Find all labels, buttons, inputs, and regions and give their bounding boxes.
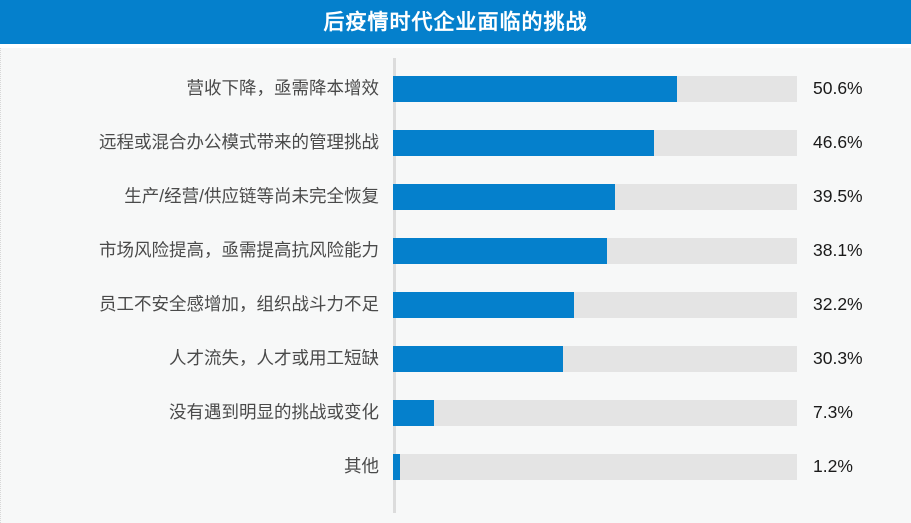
bar-track — [393, 292, 797, 318]
bar-fill — [393, 400, 434, 426]
table-row: 生产/经营/供应链等尚未完全恢复39.5% — [1, 170, 911, 224]
bar-fill — [393, 454, 400, 480]
bar-fill — [393, 292, 574, 318]
bar-category-label: 生产/经营/供应链等尚未完全恢复 — [1, 187, 393, 206]
table-row: 没有遇到明显的挑战或变化7.3% — [1, 386, 911, 440]
bar-value-label: 50.6% — [797, 79, 863, 98]
page-title: 后疫情时代企业面临的挑战 — [324, 12, 588, 33]
table-row: 市场风险提高，亟需提高抗风险能力38.1% — [1, 224, 911, 278]
bar-track-background — [393, 400, 797, 426]
chart-card: 后疫情时代企业面临的挑战 营收下降，亟需降本增效50.6%远程或混合办公模式带来… — [0, 0, 911, 523]
bar-category-label: 远程或混合办公模式带来的管理挑战 — [1, 133, 393, 152]
bar-track — [393, 184, 797, 210]
bar-value-label: 32.2% — [797, 295, 863, 314]
bar-category-label: 市场风险提高，亟需提高抗风险能力 — [1, 241, 393, 260]
bar-row-list: 营收下降，亟需降本增效50.6%远程或混合办公模式带来的管理挑战46.6%生产/… — [1, 48, 911, 523]
bar-track-background — [393, 454, 797, 480]
bar-fill — [393, 76, 677, 102]
bar-track — [393, 76, 797, 102]
table-row: 其他1.2% — [1, 440, 911, 494]
bar-value-label: 39.5% — [797, 187, 863, 206]
bar-track — [393, 130, 797, 156]
bar-track — [393, 454, 797, 480]
table-row: 人才流失，人才或用工短缺30.3% — [1, 332, 911, 386]
bar-track — [393, 238, 797, 264]
bar-category-label: 人才流失，人才或用工短缺 — [1, 349, 393, 368]
bar-fill — [393, 130, 654, 156]
bar-fill — [393, 346, 563, 372]
bar-value-label: 46.6% — [797, 133, 863, 152]
bar-track — [393, 400, 797, 426]
bar-category-label: 没有遇到明显的挑战或变化 — [1, 403, 393, 422]
bar-value-label: 7.3% — [797, 403, 853, 422]
plot-area: 营收下降，亟需降本增效50.6%远程或混合办公模式带来的管理挑战46.6%生产/… — [0, 48, 911, 523]
table-row: 员工不安全感增加，组织战斗力不足32.2% — [1, 278, 911, 332]
table-row: 远程或混合办公模式带来的管理挑战46.6% — [1, 116, 911, 170]
bar-value-label: 1.2% — [797, 457, 853, 476]
bar-fill — [393, 238, 607, 264]
bar-fill — [393, 184, 615, 210]
bar-category-label: 员工不安全感增加，组织战斗力不足 — [1, 295, 393, 314]
bar-category-label: 营收下降，亟需降本增效 — [1, 79, 393, 98]
bar-value-label: 30.3% — [797, 349, 863, 368]
bar-value-label: 38.1% — [797, 241, 863, 260]
bar-track — [393, 346, 797, 372]
chart-title-bar: 后疫情时代企业面临的挑战 — [0, 0, 911, 44]
bar-category-label: 其他 — [1, 457, 393, 476]
table-row: 营收下降，亟需降本增效50.6% — [1, 62, 911, 116]
